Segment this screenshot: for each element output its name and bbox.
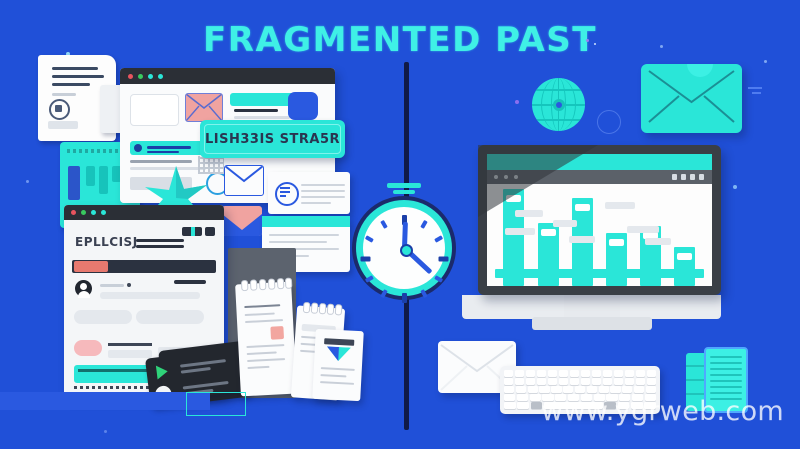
sparkle-dot (660, 45, 663, 48)
keyboard-key[interactable] (515, 378, 524, 385)
chart-ghost-label (505, 228, 535, 235)
keyboard-key[interactable] (570, 378, 579, 385)
toggle-extra[interactable] (205, 227, 215, 236)
keyboard-key[interactable] (559, 378, 568, 385)
thumbnail-placeholder (130, 94, 179, 126)
keyboard-key[interactable] (548, 378, 557, 385)
keyboard-key[interactable] (517, 394, 528, 401)
site-watermark: www.ygrweb.com (541, 396, 784, 427)
tab-square-3[interactable] (690, 174, 695, 180)
clock-hub (400, 244, 413, 257)
desktop-monitor (462, 145, 721, 330)
traffic-dot-close[interactable] (128, 74, 133, 79)
spiral-notepad-small (312, 329, 364, 401)
avatar (75, 280, 92, 297)
sparkle-dot (515, 100, 519, 104)
keyboard-key[interactable] (526, 370, 535, 377)
keyboard-key[interactable] (647, 378, 656, 385)
clock-tick (402, 293, 407, 303)
keyboard-key[interactable] (614, 370, 623, 377)
keyboard-key[interactable] (625, 370, 634, 377)
keyboard-key[interactable] (592, 370, 601, 377)
traffic-dot-maximize[interactable] (148, 74, 153, 79)
keyboard-key[interactable] (570, 370, 579, 377)
clock-tick (438, 257, 448, 262)
tag-pill (74, 340, 102, 356)
highlight-pill-text: LISH33IS STRA5R (205, 132, 340, 147)
mail-envelope-blue (224, 165, 264, 196)
clock-crown (387, 183, 421, 188)
keyboard-key[interactable] (634, 386, 644, 393)
keyboard-key[interactable] (610, 386, 620, 393)
keyboard-key[interactable] (517, 402, 529, 409)
list-icon (275, 182, 299, 206)
keyboard-key[interactable] (530, 394, 541, 401)
stopwatch-clock (352, 196, 456, 300)
keyboard-key[interactable] (603, 370, 612, 377)
keyboard-key[interactable] (592, 378, 601, 385)
keyboard-key[interactable] (636, 378, 645, 385)
bottom-blue-banner (0, 392, 210, 410)
mail-envelope-large (641, 64, 742, 133)
color-swatch (270, 326, 284, 340)
window-titlebar (120, 68, 335, 84)
chart-baseline (495, 269, 704, 278)
chart-ghost-label (605, 202, 635, 209)
keyboard-key[interactable] (559, 370, 568, 377)
sparkle-dot (104, 430, 107, 433)
chart-ghost-label (569, 236, 595, 243)
tab-square-4[interactable] (699, 174, 704, 180)
tab-square-1[interactable] (672, 174, 677, 180)
keyboard-key[interactable] (515, 370, 524, 377)
keyboard-key[interactable] (636, 370, 645, 377)
brand-logo-text (324, 338, 354, 346)
keyboard-key[interactable] (516, 386, 526, 393)
clock-tick (434, 235, 443, 242)
mail-envelope-salmon (185, 93, 223, 122)
paper-receipt (38, 55, 116, 141)
blue-tile (288, 92, 318, 120)
keyboard-key[interactable] (581, 370, 590, 377)
nav-highlight (74, 261, 108, 272)
speed-dash-2 (752, 92, 761, 94)
tab-square-2[interactable] (681, 174, 686, 180)
brand-logo-mark (326, 346, 351, 361)
clock-tick (420, 220, 427, 229)
keyboard-key[interactable] (504, 370, 513, 377)
screen-glare (478, 145, 598, 217)
keyboard-key[interactable] (504, 378, 513, 385)
traffic-dot-close[interactable] (71, 210, 76, 215)
keyboard-key[interactable] (622, 386, 632, 393)
keyboard-key[interactable] (548, 370, 557, 377)
traffic-dot-minimize[interactable] (138, 74, 143, 79)
globe-icon (532, 78, 585, 131)
monitor-neck (564, 295, 620, 317)
envelope-fold-lines (647, 69, 736, 124)
monitor-base (532, 317, 652, 330)
illustration-canvas: FRAGMENTED PAST (0, 0, 800, 449)
sparkle-dot (26, 180, 29, 183)
keyboard-key[interactable] (551, 386, 561, 393)
window-titlebar (64, 205, 224, 220)
keyboard-key[interactable] (646, 386, 656, 393)
keyboard-key[interactable] (599, 386, 609, 393)
keyboard-key[interactable] (603, 378, 612, 385)
keyboard-key[interactable] (563, 386, 573, 393)
chart-ghost-label (553, 220, 577, 227)
keyboard-key[interactable] (614, 378, 623, 385)
keyboard-key[interactable] (647, 370, 656, 377)
list-card (268, 172, 350, 214)
keyboard-key[interactable] (581, 378, 590, 385)
sparkle-dot (594, 43, 596, 45)
highlighted-text-pill[interactable]: LISH33IS STRA5R (200, 120, 345, 158)
site-logo-text: EPLLCISJ (75, 235, 138, 249)
sparkle-dot (733, 185, 737, 189)
keyboard-key[interactable] (504, 394, 515, 401)
chart-ghost-label (627, 226, 659, 233)
keyboard-key[interactable] (539, 386, 549, 393)
keyboard-row (504, 378, 656, 385)
cyan-outline-box (186, 392, 246, 416)
chart-bar-label (609, 239, 624, 246)
sparkle-dot (764, 60, 767, 63)
keyboard-key[interactable] (526, 378, 535, 385)
traffic-dot-minimize[interactable] (81, 210, 86, 215)
keyboard-key[interactable] (504, 386, 514, 393)
page-title: FRAGMENTED PAST (0, 20, 800, 60)
play-icon[interactable] (156, 364, 169, 379)
keyboard-key[interactable] (537, 370, 546, 377)
clock-face (363, 207, 445, 289)
traffic-dot-extra[interactable] (101, 210, 106, 215)
chart-bar-label (541, 229, 556, 236)
keyboard-key[interactable] (625, 378, 634, 385)
sparkle-dot (586, 39, 589, 42)
clock-tick (365, 235, 374, 242)
keyboard-row (504, 370, 656, 377)
mail-envelope-salmon-2 (222, 206, 262, 236)
user-icon (134, 144, 142, 152)
keyboard-key[interactable] (587, 386, 597, 393)
ring-outline-icon (597, 110, 621, 134)
spiral-notepad-large (235, 282, 297, 397)
clock-tick (360, 257, 370, 262)
keyboard-key[interactable] (528, 386, 538, 393)
chart-bar-label (677, 253, 692, 260)
chart-ghost-label (645, 238, 671, 245)
keyboard-key[interactable] (504, 402, 516, 409)
keyboard-key[interactable] (537, 378, 546, 385)
traffic-dot-extra[interactable] (158, 74, 163, 79)
traffic-dot-maximize[interactable] (91, 210, 96, 215)
speed-dash-1 (748, 87, 762, 89)
keyboard-row (504, 386, 656, 393)
clock-tick (380, 220, 387, 229)
seal-stamp (49, 99, 70, 120)
keyboard-key[interactable] (575, 386, 585, 393)
